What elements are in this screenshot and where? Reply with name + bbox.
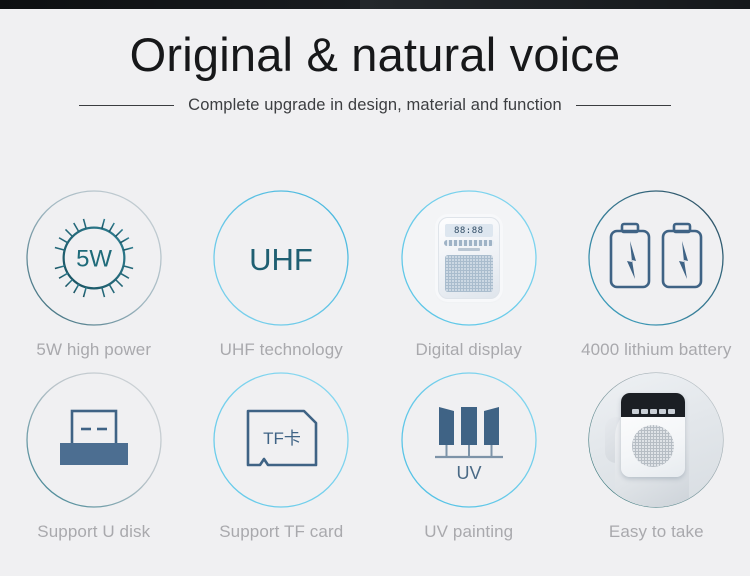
subtitle-rule-left: [79, 105, 174, 106]
dual-battery-icon: [606, 208, 706, 308]
feature-circle: 5W: [26, 190, 162, 326]
feature-label-udisk: Support U disk: [37, 522, 150, 542]
gauge-5w-icon: 5W: [44, 208, 144, 308]
feature-item-power[interactable]: 5W 5W high power: [0, 190, 188, 372]
feature-item-uv[interactable]: UV UV painting: [375, 372, 563, 554]
feature-label-uhf: UHF technology: [220, 340, 343, 360]
feature-circle: UV: [401, 372, 537, 508]
feature-item-uhf[interactable]: UHF UHF technology: [188, 190, 376, 372]
portable-speaker-body: [621, 393, 685, 477]
subtitle-row: Complete upgrade in design, material and…: [0, 96, 750, 115]
speaker-round-grille: [632, 425, 674, 467]
radio-device-body: 88:88: [438, 217, 500, 299]
feature-item-battery[interactable]: 4000 lithium battery: [563, 190, 750, 372]
lcd-screen: 88:88: [445, 224, 493, 237]
hand-holding-speaker-photo-icon: [589, 373, 723, 507]
page-title: Original & natural voice: [0, 9, 750, 79]
feature-item-display[interactable]: 88:88 Digital display: [375, 190, 563, 372]
feature-circle: TF卡: [213, 372, 349, 508]
top-bar-right-segment: [360, 0, 750, 9]
uhf-icon-text: UHF: [249, 242, 313, 277]
device-speaker-grille: [445, 255, 493, 292]
speaker-key: [668, 409, 675, 414]
usb-flash-drive-icon: [44, 390, 144, 490]
feature-label-display: Digital display: [416, 340, 522, 360]
radio-device-photo-icon: 88:88: [402, 191, 536, 325]
feature-label-power: 5W high power: [36, 340, 151, 360]
feature-circle: [588, 372, 724, 508]
feature-circle: [26, 372, 162, 508]
top-dark-bar: [0, 0, 750, 9]
tf-card-icon: TF卡: [231, 390, 331, 490]
gauge-icon-text: 5W: [76, 245, 112, 272]
feature-circle: UHF: [213, 190, 349, 326]
uv-paint-brushes-icon: UV: [419, 390, 519, 490]
feature-label-portable: Easy to take: [609, 522, 704, 542]
feature-item-portable[interactable]: Easy to take: [563, 372, 750, 554]
device-button-row: [444, 240, 494, 246]
page-header: Original & natural voice Complete upgrad…: [0, 9, 750, 115]
subtitle-rule-right: [576, 105, 671, 106]
speaker-key: [641, 409, 648, 414]
feature-item-tfcard[interactable]: TF卡 Support TF card: [188, 372, 376, 554]
uv-icon-text: UV: [456, 463, 481, 483]
uhf-text-icon: UHF: [231, 208, 331, 308]
top-bar-left-segment: [0, 0, 360, 9]
feature-grid: 5W 5W high power UHF: [0, 190, 750, 554]
device-brand-mark: [458, 248, 480, 251]
speaker-key: [650, 409, 657, 414]
speaker-key: [632, 409, 639, 414]
feature-label-uv: UV painting: [424, 522, 513, 542]
tf-card-icon-text: TF卡: [263, 429, 301, 448]
speaker-control-panel: [621, 393, 685, 417]
feature-circle: [588, 190, 724, 326]
page-subtitle: Complete upgrade in design, material and…: [188, 96, 562, 115]
feature-label-tfcard: Support TF card: [219, 522, 343, 542]
hand-scene: [589, 373, 723, 507]
feature-circle: 88:88: [401, 190, 537, 326]
feature-label-battery: 4000 lithium battery: [581, 340, 731, 360]
feature-item-udisk[interactable]: Support U disk: [0, 372, 188, 554]
speaker-key: [659, 409, 666, 414]
